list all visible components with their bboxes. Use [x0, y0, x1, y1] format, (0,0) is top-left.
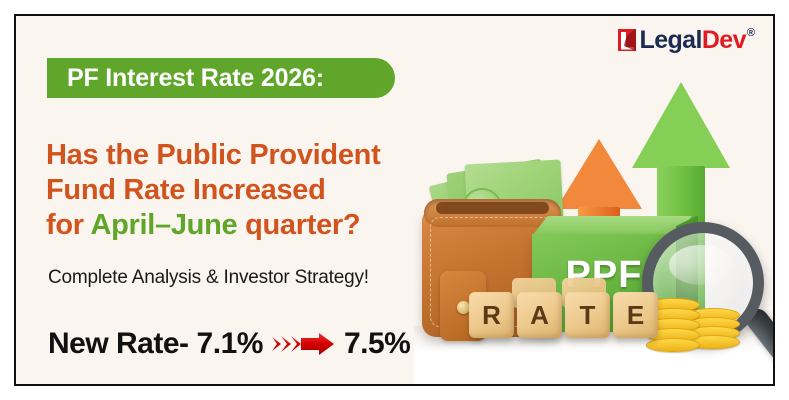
headline-line-3-pre: for: [46, 209, 90, 241]
promo-banner: LegalDev ® PF Interest Rate 2026: Has th…: [0, 0, 789, 400]
eyebrow-badge: PF Interest Rate 2026:: [47, 58, 395, 98]
subheadline: Complete Analysis & Investor Strategy!: [48, 266, 369, 290]
rate-label: New Rate-: [48, 327, 189, 361]
banner-frame: LegalDev ® PF Interest Rate 2026: Has th…: [14, 14, 775, 386]
headline-line-3-post: quarter?: [237, 209, 360, 241]
wallet-opening: [436, 202, 549, 214]
headline-highlight-quarter: April–June: [90, 209, 237, 241]
rate-change-row: New Rate- 7.1% 7.5%: [48, 327, 410, 361]
wooden-block-letter: T: [565, 292, 610, 338]
headline-line-3: for April–June quarter?: [46, 208, 466, 243]
headline-line-2: Fund Rate Increased: [46, 173, 466, 208]
eyebrow-badge-label: PF Interest Rate 2026:: [67, 66, 324, 91]
wooden-block-letter: A: [517, 292, 562, 338]
finance-illustration: PPF: [414, 16, 775, 384]
triple-chevron-right-arrow-icon: [272, 333, 334, 355]
wooden-block-letter: R: [469, 292, 514, 338]
rate-old-value: 7.1%: [197, 327, 263, 361]
rate-new-value: 7.5%: [344, 327, 410, 361]
headline-block: Has the Public Provident Fund Rate Incre…: [46, 138, 466, 243]
headline-line-1: Has the Public Provident: [46, 138, 466, 173]
wooden-letter-blocks: R A T E: [469, 292, 661, 338]
magnifier-glare: [669, 245, 733, 285]
wooden-block-letter: E: [613, 292, 658, 338]
